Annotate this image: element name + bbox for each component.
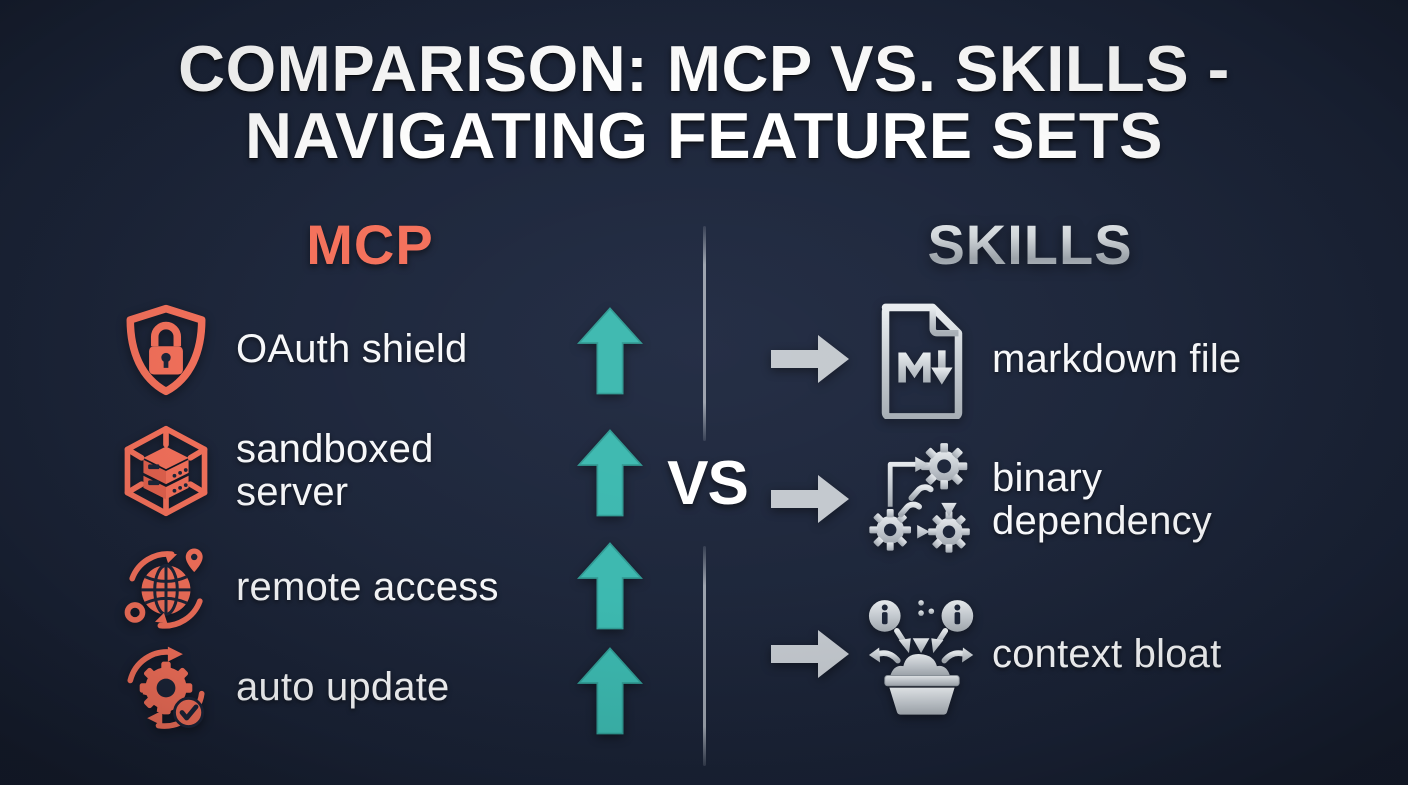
mcp-feature-label: sandboxed server	[236, 428, 434, 514]
arrow-right-icon	[768, 330, 852, 390]
mcp-feature-row: OAuth shield	[118, 302, 588, 398]
arrow-up-icon	[572, 645, 648, 737]
skills-feature-label: binary dependency	[992, 457, 1212, 543]
vs-label: VS	[645, 448, 770, 519]
cube-server-icon	[118, 423, 214, 519]
infographic-canvas: Comparison: MCP vs. Skills - Navigating …	[0, 0, 1408, 785]
skills-feature-label: context bloat	[992, 633, 1221, 676]
mcp-feature-label: auto update	[236, 666, 450, 709]
arrow-up-icon	[572, 305, 648, 397]
arrow-up-icon	[572, 540, 648, 632]
overflowing-basket-info-icon	[868, 595, 976, 715]
mcp-feature-label: OAuth shield	[236, 328, 467, 371]
vertical-divider-top	[703, 226, 706, 441]
arrow-right-icon	[768, 625, 852, 685]
mcp-feature-row: remote access	[118, 540, 588, 636]
skills-feature-row: context bloat	[768, 595, 1368, 715]
mcp-feature-row: auto update	[118, 640, 588, 736]
mcp-feature-row: sandboxed server	[118, 423, 588, 519]
skills-feature-row: markdown file	[768, 300, 1368, 420]
column-heading-mcp: MCP	[160, 212, 580, 277]
skills-feature-row: binary dependency	[768, 440, 1368, 560]
shield-lock-icon	[118, 302, 214, 398]
gears-broken-chain-icon	[868, 440, 976, 560]
mcp-feature-label: remote access	[236, 566, 499, 609]
skills-feature-label: markdown file	[992, 338, 1241, 381]
page-title: Comparison: MCP vs. Skills - Navigating …	[0, 36, 1408, 170]
globe-sync-pin-icon	[118, 540, 214, 636]
arrow-right-icon	[768, 470, 852, 530]
gear-refresh-check-icon	[118, 640, 214, 736]
markdown-file-icon	[868, 300, 976, 420]
arrow-up-icon	[572, 427, 648, 519]
column-heading-skills: SKILLS	[800, 212, 1260, 277]
vertical-divider-bottom	[703, 546, 706, 766]
